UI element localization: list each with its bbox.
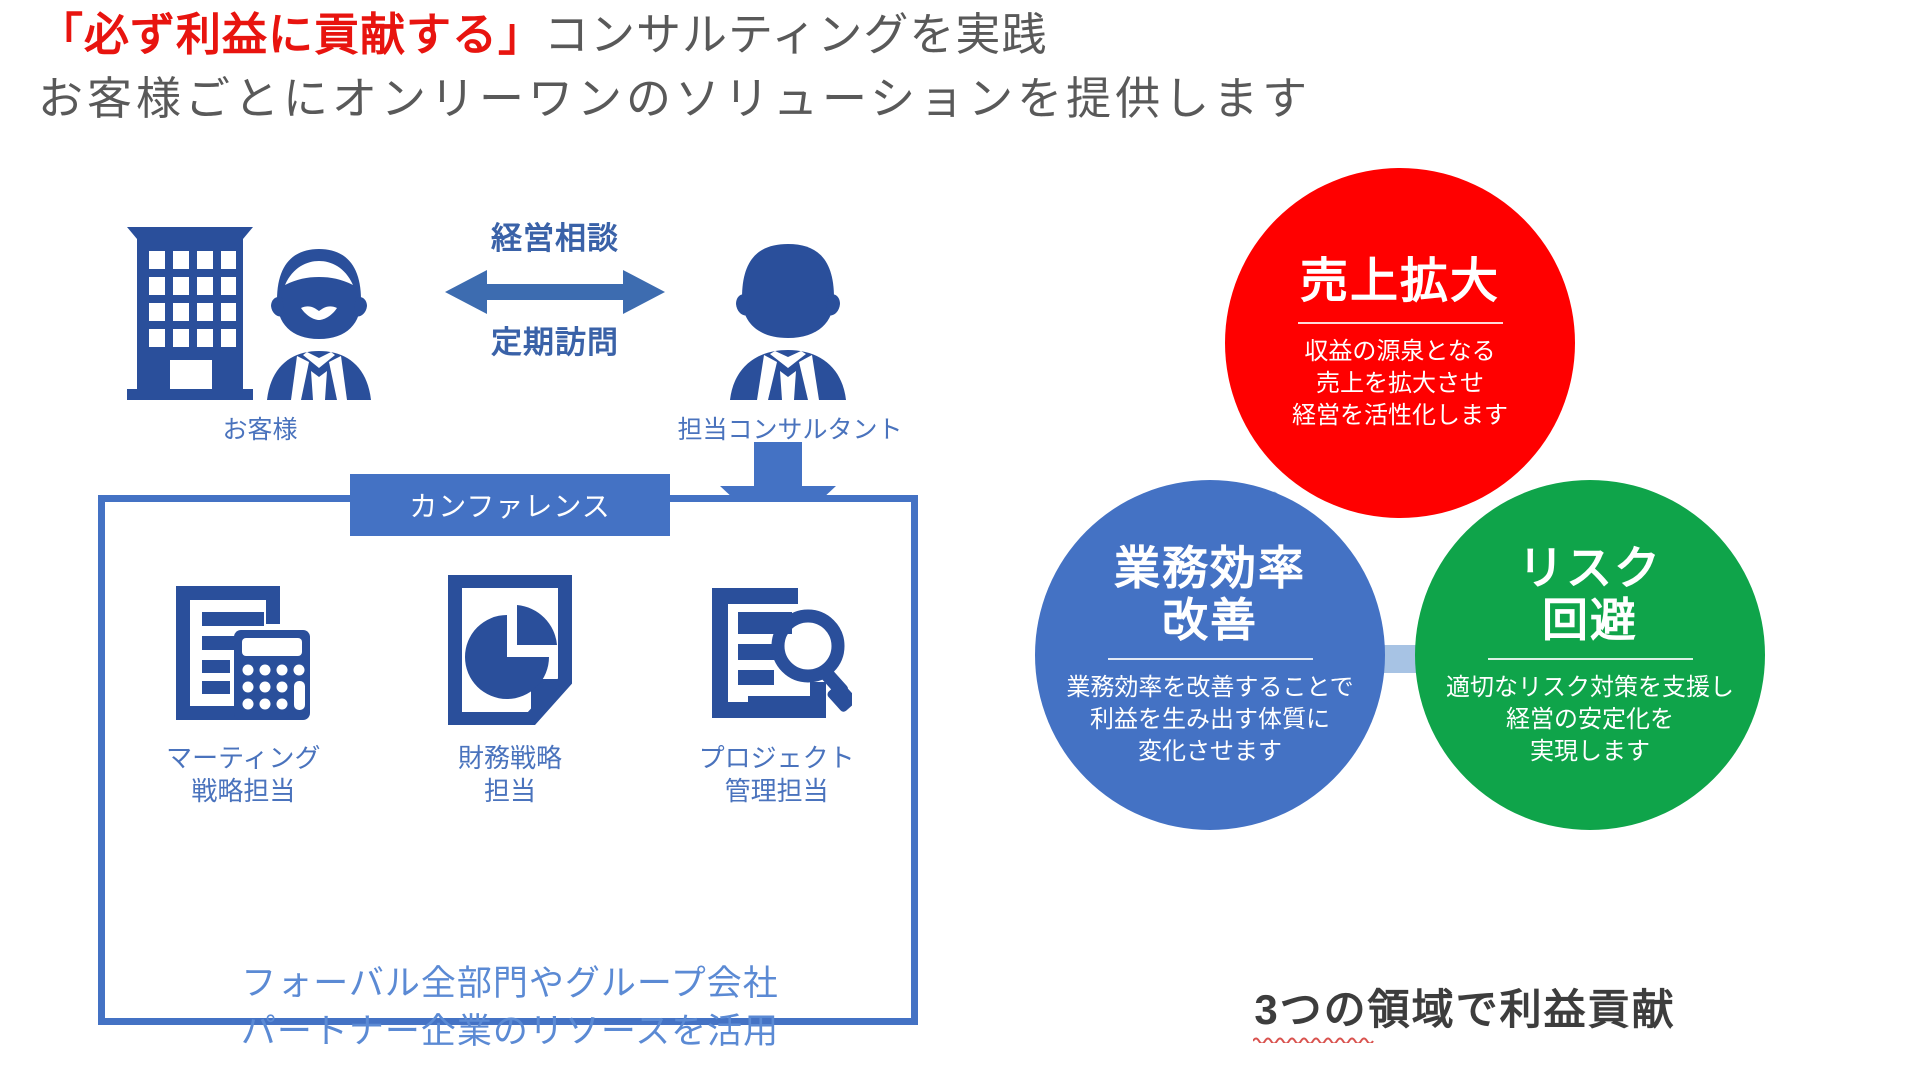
headline-rest-text: コンサルティングを実践 <box>544 9 1047 60</box>
circle-operations-body: 業務効率を改善することで 利益を生み出す体質に 変化させます <box>1066 672 1353 768</box>
headline-line-2: お客様ごとにオンリーワンのソリューションを提供します <box>38 70 1438 128</box>
circle-operations-title-line-1: 業務効率 <box>1114 542 1306 594</box>
headline-line-1: 「必ず利益に貢献する」コンサルティングを実践 <box>38 6 1438 64</box>
resource-note-line-2: パートナー企業のリソースを活用 <box>120 1008 900 1056</box>
circle-sales-body: 収益の源泉となる 売上を拡大させ 経営を活性化します <box>1292 336 1508 432</box>
circle-sales-title: 売上拡大 <box>1300 254 1500 310</box>
document-magnifier-icon <box>662 570 892 730</box>
circle-operations-divider <box>1108 658 1313 660</box>
customer-caption: お客様 <box>125 410 395 446</box>
circle-operations-title-line-2: 改善 <box>1162 594 1258 646</box>
role-item-finance: 財務戦略 担当 <box>395 570 625 840</box>
role-label-marketing: マーティング 戦略担当 <box>128 742 358 808</box>
three-areas-caption: 3つの領域で利益貢献 <box>1140 976 1790 1037</box>
circle-risk-avoidance: リスク 回避 適切なリスク対策を支援し 経営の安定化を 実現します <box>1415 480 1765 830</box>
circle-risk-divider <box>1488 658 1693 660</box>
arrow-label-top: 経営相談 <box>440 222 670 256</box>
consultant-person-icon <box>700 210 875 400</box>
slide-canvas: 「必ず利益に貢献する」コンサルティングを実践 お客様ごとにオンリーワンのソリュー… <box>0 0 1920 1080</box>
document-piechart-icon <box>395 570 625 730</box>
circle-sales-divider <box>1298 322 1503 324</box>
resource-note: フォーバル全部門やグループ会社 パートナー企業のリソースを活用 <box>120 960 900 1056</box>
arrow-label-bottom: 定期訪問 <box>440 326 670 360</box>
exchange-arrow-block: 経営相談 定期訪問 <box>440 210 670 400</box>
left-diagram: 経営相談 定期訪問 <box>0 150 950 1080</box>
conference-band-label: カンファレンス <box>350 474 670 536</box>
headline-accent-text: 「必ず利益に貢献する」 <box>38 9 544 60</box>
role-label-project: プロジェクト 管理担当 <box>662 742 892 808</box>
circle-risk-body: 適切なリスク対策を支援し 経営の安定化を 実現します <box>1446 672 1734 768</box>
circle-risk-title-line-1: リスク <box>1518 542 1662 594</box>
document-calculator-icon <box>128 570 358 730</box>
role-item-project: プロジェクト 管理担当 <box>662 570 892 840</box>
double-arrow-icon <box>440 268 670 316</box>
spellcheck-squiggle-icon <box>1253 1035 1375 1043</box>
circle-risk-title-line-2: 回避 <box>1542 594 1638 646</box>
role-label-finance: 財務戦略 担当 <box>395 742 625 808</box>
headline-block: 「必ず利益に貢献する」コンサルティングを実践 お客様ごとにオンリーワンのソリュー… <box>38 6 1438 128</box>
circle-sales-expansion: 売上拡大 収益の源泉となる 売上を拡大させ 経営を活性化します <box>1225 168 1575 518</box>
role-list: マーティング 戦略担当 財務戦略 担当 <box>110 570 910 840</box>
resource-note-line-1: フォーバル全部門やグループ会社 <box>120 960 900 1008</box>
consultant-caption: 担当コンサルタント <box>640 410 940 446</box>
right-diagram: 売上拡大 収益の源泉となる 売上を拡大させ 経営を活性化します 業務効率 改善 … <box>1000 150 1920 1080</box>
customer-building-person-icon <box>125 205 395 400</box>
circle-operations-efficiency: 業務効率 改善 業務効率を改善することで 利益を生み出す体質に 変化させます <box>1035 480 1385 830</box>
role-item-marketing: マーティング 戦略担当 <box>128 570 358 840</box>
